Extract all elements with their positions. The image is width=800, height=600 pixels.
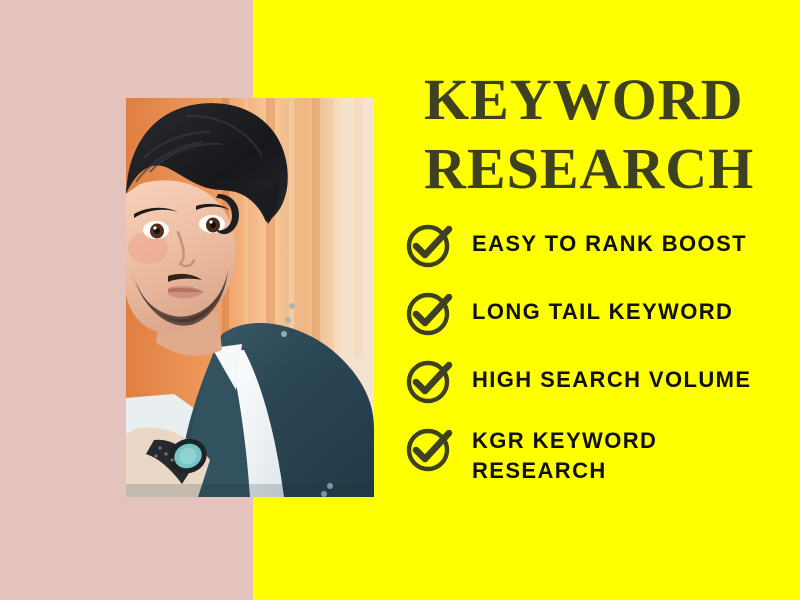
check-circle-icon-glyph — [404, 218, 456, 270]
page-title-line-2: RESEARCH — [424, 134, 796, 203]
check-circle-icon — [404, 218, 456, 270]
page-title: KEYWORD RESEARCH — [424, 65, 796, 203]
check-circle-icon — [404, 286, 456, 338]
portrait-photo-artwork — [126, 98, 374, 497]
list-item-label: LONG TAIL KEYWORD — [472, 286, 800, 327]
page-title-line-1: KEYWORD — [424, 65, 796, 134]
list-item-high-search-volume: HIGH SEARCH VOLUME — [404, 354, 800, 406]
feature-checklist: EASY TO RANK BOOST LONG TAIL KEYWORD — [404, 218, 800, 486]
list-item-easy-to-rank-boost: EASY TO RANK BOOST — [404, 218, 800, 270]
check-circle-icon — [404, 354, 456, 406]
check-circle-icon-glyph — [404, 354, 456, 406]
check-circle-icon-glyph — [404, 422, 456, 474]
list-item-label: KGR KEYWORD RESEARCH — [472, 422, 800, 486]
list-item-label-line: EASY TO RANK BOOST — [472, 231, 747, 256]
list-item-label: EASY TO RANK BOOST — [472, 218, 800, 259]
list-item-long-tail-keyword: LONG TAIL KEYWORD — [404, 286, 800, 338]
check-circle-icon — [404, 422, 456, 474]
content-column: KEYWORD RESEARCH EASY TO RANK BOOST — [400, 0, 800, 600]
list-item-label-line: KGR KEYWORD — [472, 426, 800, 456]
poster-canvas: KEYWORD RESEARCH EASY TO RANK BOOST — [0, 0, 800, 600]
list-item-kgr-keyword-research: KGR KEYWORD RESEARCH — [404, 422, 800, 486]
list-item-label-line: LONG TAIL KEYWORD — [472, 299, 733, 324]
portrait-photo — [126, 98, 374, 497]
list-item-label-line: HIGH SEARCH VOLUME — [472, 367, 751, 392]
check-circle-icon-glyph — [404, 286, 456, 338]
list-item-label: HIGH SEARCH VOLUME — [472, 354, 800, 395]
list-item-label-line: RESEARCH — [472, 456, 800, 486]
